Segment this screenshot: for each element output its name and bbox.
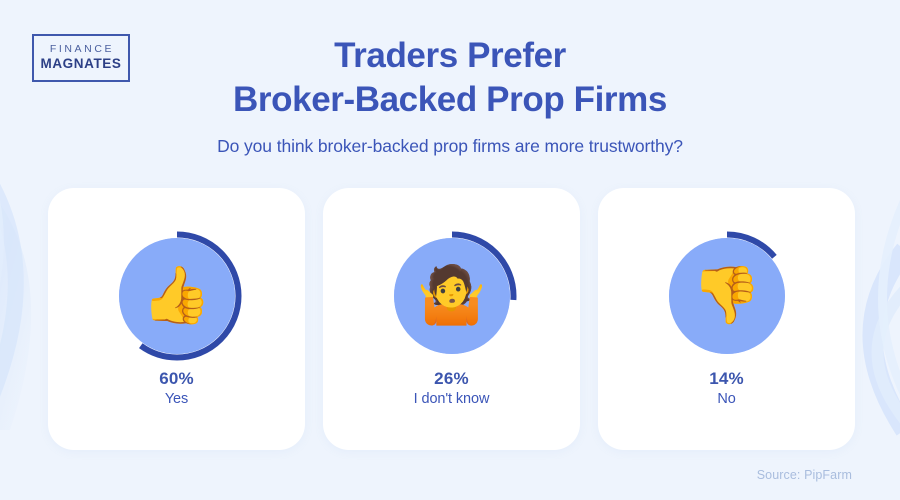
result-card: 👍 60% Yes — [48, 188, 305, 450]
stat-label: No — [709, 390, 744, 410]
title-line-2: Broker-Backed Prop Firms — [0, 78, 900, 122]
thumbs-up-emoji: 👍 — [109, 228, 245, 364]
stat-block: 26% I don't know — [414, 368, 490, 411]
source-attribution: Source: PipFarm — [757, 468, 852, 482]
thumbs-down-emoji: 👎 — [659, 228, 795, 364]
infographic-canvas: FINANCE MAGNATES Traders Prefer Broker-B… — [0, 0, 900, 500]
result-card: 👎 14% No — [598, 188, 855, 450]
shrug-emoji: 🤷 — [384, 228, 520, 364]
stat-percent: 26% — [414, 368, 490, 391]
donut-chart: 🤷 — [384, 228, 520, 364]
page-subtitle: Do you think broker-backed prop firms ar… — [0, 136, 900, 157]
donut-chart: 👍 — [109, 228, 245, 364]
page-title: Traders Prefer Broker-Backed Prop Firms — [0, 34, 900, 123]
stat-label: Yes — [159, 390, 194, 410]
stat-label: I don't know — [414, 390, 490, 410]
stat-block: 14% No — [709, 368, 744, 411]
results-card-row: 👍 60% Yes 🤷 26% I don't know — [48, 188, 855, 450]
result-card: 🤷 26% I don't know — [323, 188, 580, 450]
donut-chart: 👎 — [659, 228, 795, 364]
stat-block: 60% Yes — [159, 368, 194, 411]
title-line-1: Traders Prefer — [0, 34, 900, 78]
stat-percent: 60% — [159, 368, 194, 391]
stat-percent: 14% — [709, 368, 744, 391]
